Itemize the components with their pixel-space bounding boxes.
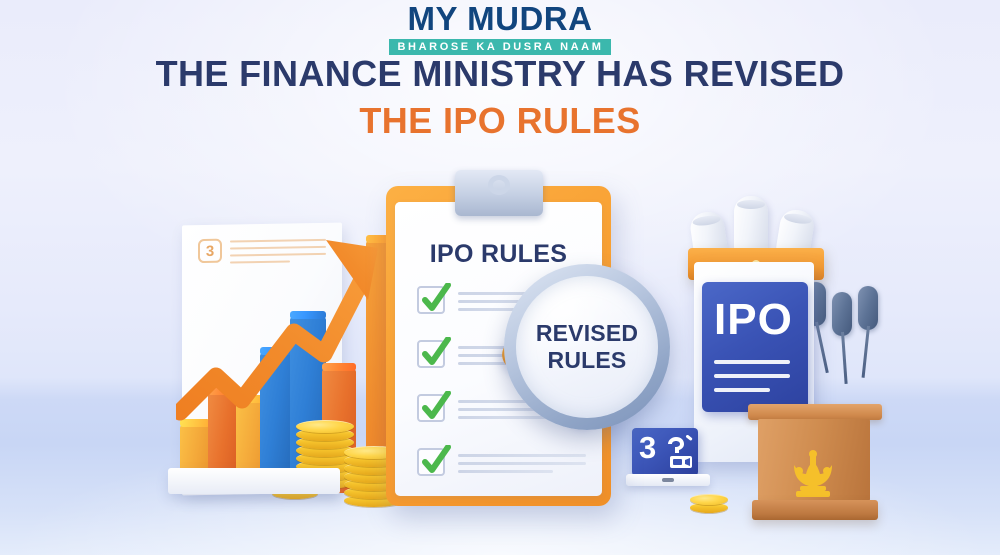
clipboard-clip-ring-icon xyxy=(488,175,510,195)
checkbox-4[interactable] xyxy=(417,448,445,476)
speaking-podium xyxy=(752,404,878,522)
microphone-3 xyxy=(858,286,878,330)
growth-arrow-icon xyxy=(176,228,386,428)
magnifying-glass-icon: REVISED RULES xyxy=(466,256,716,506)
chart-plinth xyxy=(168,468,340,494)
magnifier-ring: REVISED RULES xyxy=(504,264,670,430)
podium-base xyxy=(752,500,878,520)
podium-top xyxy=(748,404,882,420)
national-emblem-icon xyxy=(784,449,842,506)
checkbox-1[interactable] xyxy=(417,286,445,314)
checkbox-2[interactable] xyxy=(417,340,445,368)
magnifier-lens: REVISED RULES xyxy=(516,276,658,418)
banner-canvas: MY MUDRA BHAROSE KA DUSRA NAAM THE FINAN… xyxy=(0,0,1000,555)
magnifier-text-line-2: RULES xyxy=(548,347,627,374)
microphone-2 xyxy=(832,292,852,336)
ipo-sign-label: IPO xyxy=(714,298,793,342)
checkbox-3[interactable] xyxy=(417,394,445,422)
ipo-sign-plate: IPO xyxy=(702,282,808,412)
podium-body xyxy=(758,419,870,501)
magnifier-text-line-1: REVISED xyxy=(536,320,638,347)
illustration-scene: 3 xyxy=(0,0,1000,555)
